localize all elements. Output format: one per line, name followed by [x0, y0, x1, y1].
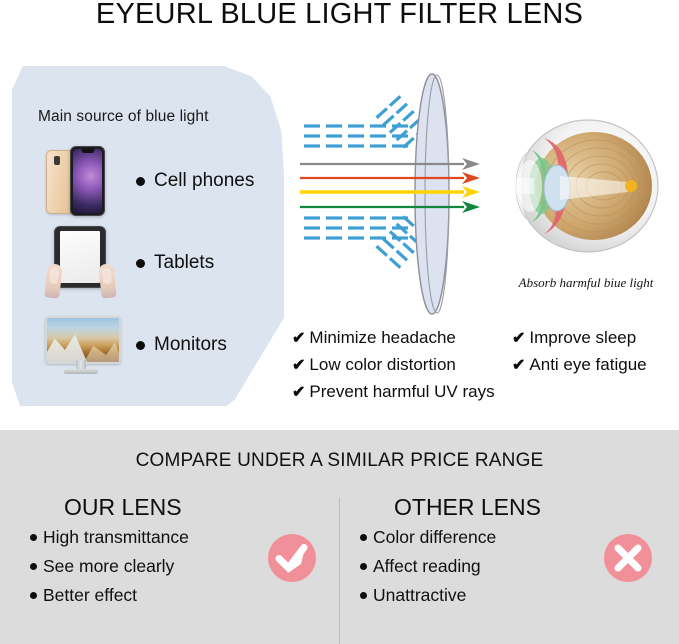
hand-left-icon: [44, 263, 62, 298]
monitor-stand-neck: [76, 360, 86, 369]
comparison-title: COMPARE UNDER A SIMILAR PRICE RANGE: [0, 450, 679, 472]
list-item-label: See more clearly: [43, 556, 174, 577]
human-eye-cross-section-icon: [500, 112, 668, 272]
benefits-column-left: ✔ Minimize headache ✔ Low color distorti…: [292, 328, 495, 409]
comparison-section: COMPARE UNDER A SIMILAR PRICE RANGE OUR …: [0, 430, 679, 644]
source-label-wrapper: Monitors: [136, 334, 227, 356]
check-icon: ✔: [512, 328, 525, 348]
other-lens-column: OTHER LENS Color difference Affect readi…: [346, 494, 666, 644]
benefit-item: ✔ Anti eye fatigue: [512, 355, 647, 375]
bullet-icon: [136, 259, 145, 268]
eye-caption: Absorb harmful biue light: [498, 275, 674, 291]
tablet-screen: [60, 231, 100, 283]
bullet-icon: [360, 592, 367, 599]
monitor-screen: [45, 316, 121, 364]
benefit-label: Prevent harmful UV rays: [309, 382, 494, 402]
list-item-label: Unattractive: [373, 585, 466, 606]
source-item-monitors: Monitors: [40, 306, 280, 384]
source-item-label: Monitors: [154, 334, 227, 356]
source-item-cell-phones: Cell phones: [40, 142, 280, 220]
bullet-icon: [30, 534, 37, 541]
source-item-label: Tablets: [154, 252, 214, 274]
source-panel-heading: Main source of blue light: [38, 108, 209, 126]
benefit-item: ✔ Prevent harmful UV rays: [292, 382, 495, 402]
check-icon: ✔: [512, 355, 525, 375]
source-item-tablets: Tablets: [40, 224, 280, 302]
list-item-label: Better effect: [43, 585, 137, 606]
column-divider: [339, 498, 340, 644]
benefit-item: ✔ Improve sleep: [512, 328, 647, 348]
lens-cross-section-icon: [292, 68, 492, 320]
benefits-column-right: ✔ Improve sleep ✔ Anti eye fatigue: [512, 328, 647, 382]
check-icon: ✔: [292, 382, 305, 402]
benefit-label: Low color distortion: [309, 355, 455, 375]
benefit-item: ✔ Low color distortion: [292, 355, 495, 375]
list-item: Better effect: [30, 585, 336, 606]
our-lens-column: OUR LENS High transmittance See more cle…: [16, 494, 336, 644]
bullet-icon: [136, 341, 145, 350]
monitor-stand-base: [64, 369, 98, 374]
tablet-icon: [40, 224, 122, 302]
bullet-icon: [360, 563, 367, 570]
tablet-body: [54, 226, 106, 288]
benefit-item: ✔ Minimize headache: [292, 328, 495, 348]
phone-front-face: [70, 146, 105, 216]
check-icon: ✔: [292, 355, 305, 375]
smartphone-icon: [40, 142, 122, 220]
source-item-label: Cell phones: [154, 170, 254, 192]
bullet-icon: [30, 592, 37, 599]
bullet-icon: [360, 534, 367, 541]
phone-screen: [73, 149, 102, 213]
source-label-wrapper: Tablets: [136, 252, 214, 274]
hand-right-icon: [98, 263, 116, 298]
bullet-icon: [30, 563, 37, 570]
phone-notch: [81, 149, 94, 153]
other-lens-title: OTHER LENS: [394, 494, 666, 521]
desktop-monitor-icon: [40, 306, 122, 384]
benefit-label: Improve sleep: [529, 328, 636, 348]
bullet-icon: [136, 177, 145, 186]
page-title: EYEURL BLUE LIGHT FILTER LENS: [0, 0, 679, 31]
list-item-label: Color difference: [373, 527, 496, 548]
list-item: Unattractive: [360, 585, 666, 606]
list-item-label: High transmittance: [43, 527, 189, 548]
check-badge-icon: [268, 534, 316, 582]
source-label-wrapper: Cell phones: [136, 170, 254, 192]
list-item-label: Affect reading: [373, 556, 481, 577]
benefit-label: Minimize headache: [309, 328, 455, 348]
benefit-label: Anti eye fatigue: [529, 355, 646, 375]
check-icon: ✔: [292, 328, 305, 348]
our-lens-title: OUR LENS: [64, 494, 336, 521]
cross-badge-icon: [604, 534, 652, 582]
